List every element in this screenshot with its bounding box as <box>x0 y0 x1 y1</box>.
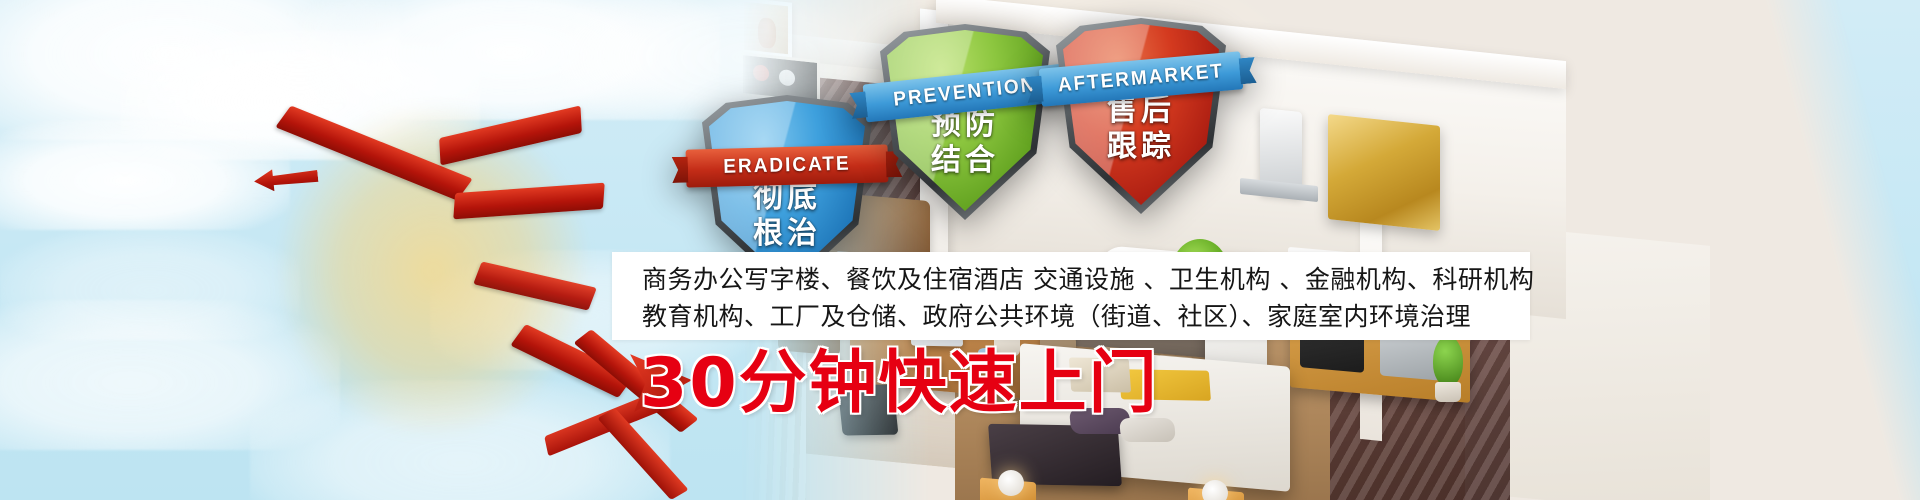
service-scope-line-2: 教育机构、工厂及仓储、政府公共环境（街道、社区）、家庭室内环境治理 <box>642 298 1530 335</box>
shield-gloss <box>1063 24 1219 205</box>
potted-plant <box>1428 330 1468 402</box>
badge-english-label: AFTERMARKET <box>1057 60 1225 98</box>
cloud-shape <box>0 120 290 230</box>
service-scope-panel: 商务办公写字楼、餐饮及住宿酒店 交通设施 、卫生机构 、金融机构、科研机构 教育… <box>612 252 1530 340</box>
badge-aftermarket: 售后 跟踪 AFTERMARKET <box>1056 18 1226 214</box>
shield-gloss <box>887 30 1043 211</box>
table-lamp <box>998 470 1024 496</box>
badge-prevention: 预防 结合 PREVENTION <box>880 24 1050 220</box>
cloud-shape <box>0 230 300 340</box>
headline-text: 30分钟快速上门 <box>640 350 1159 418</box>
badge-english-label: ERADICATE <box>723 153 851 179</box>
promotional-banner: 3 彻底 根治 ERADICATE 预防 结合 <box>0 0 1920 500</box>
gold-wall-cabinet <box>1328 114 1440 231</box>
badge-ribbon: ERADICATE <box>686 144 889 187</box>
badge-english-label: PREVENTION <box>892 74 1037 112</box>
service-scope-line-1: 商务办公写字楼、餐饮及住宿酒店 交通设施 、卫生机构 、金融机构、科研机构 <box>642 261 1530 298</box>
table-lamp <box>1202 480 1228 500</box>
wall-painting <box>740 0 792 59</box>
